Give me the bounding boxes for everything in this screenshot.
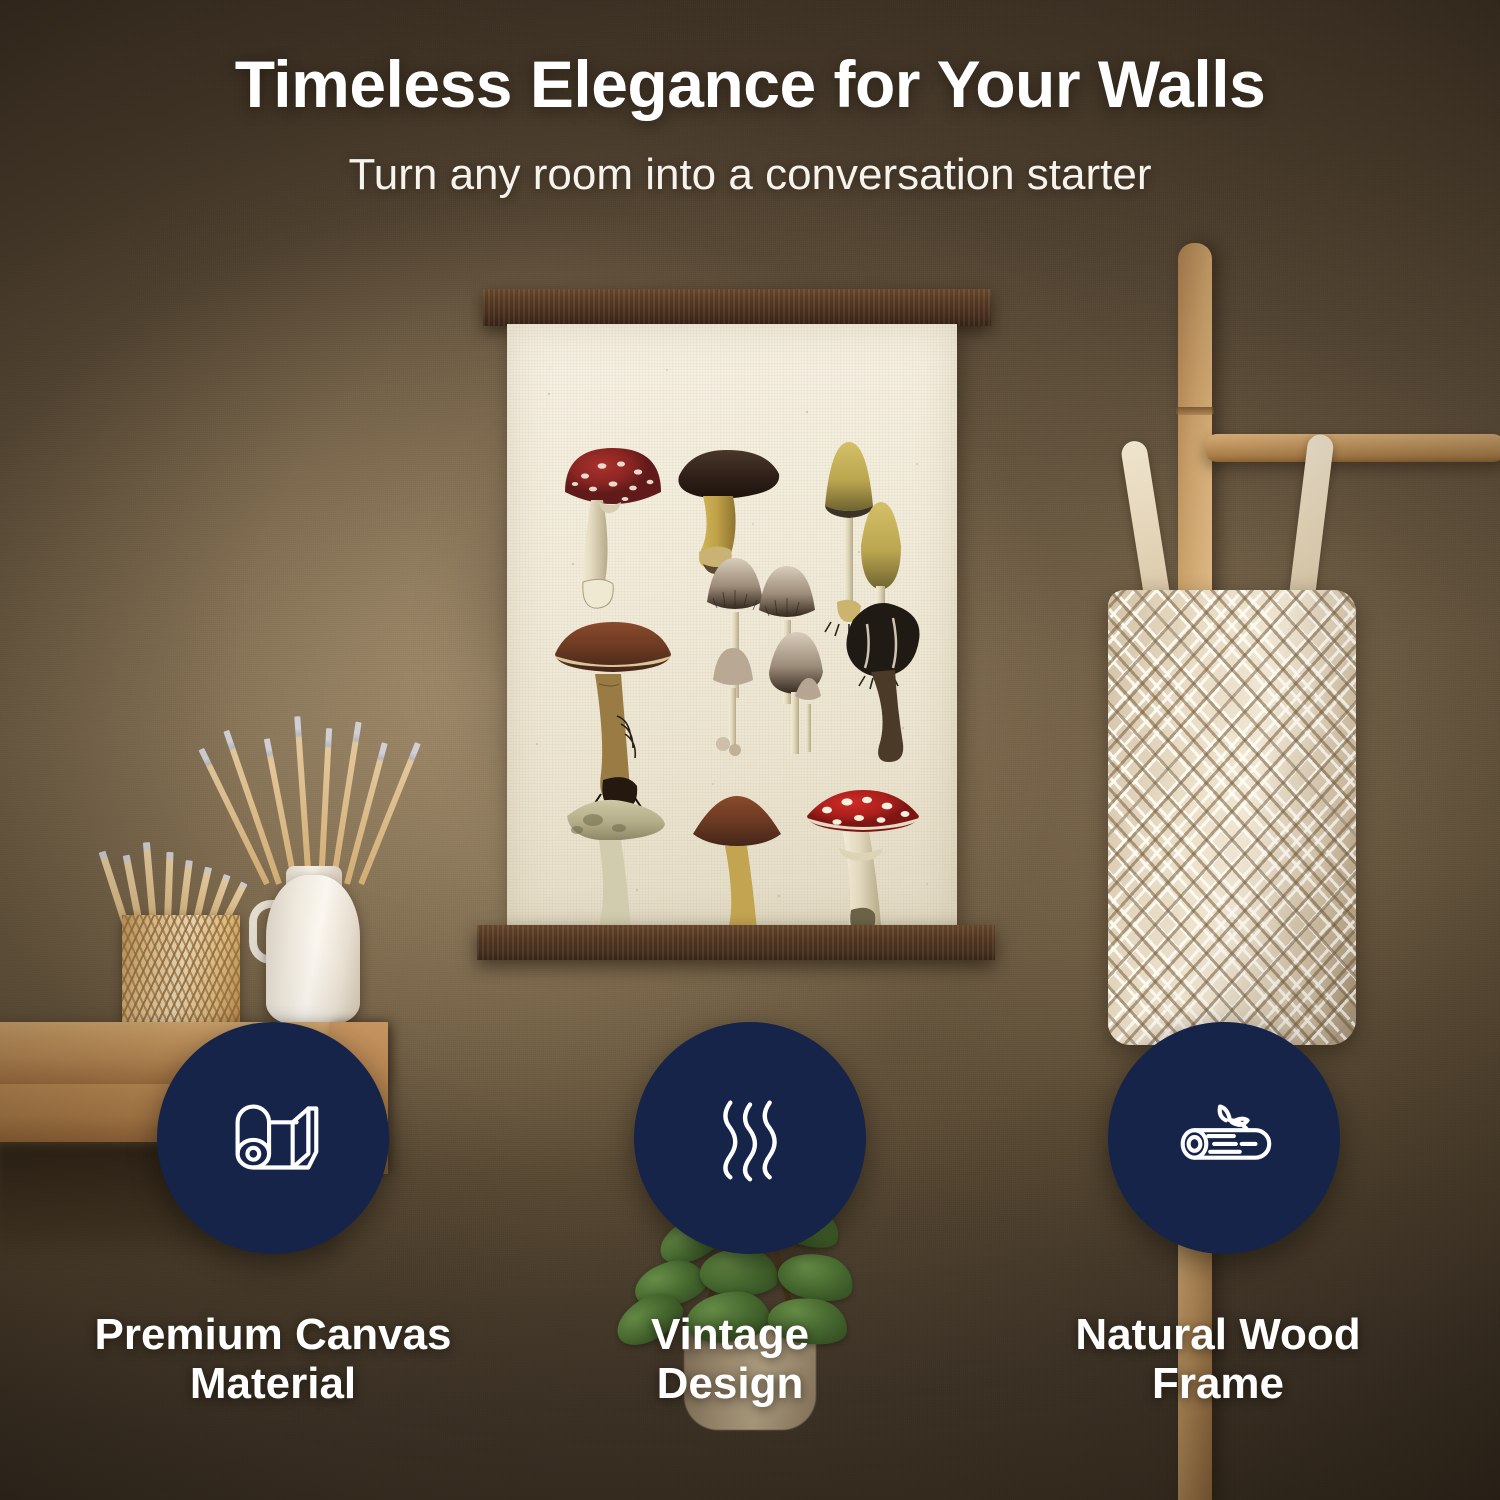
feature-label-premium-canvas: Premium Canvas Material	[63, 1310, 483, 1409]
paint-brushes	[258, 716, 378, 884]
feature-label-natural-wood-frame: Natural Wood Frame	[1008, 1310, 1428, 1409]
pencil-cup	[122, 915, 240, 1027]
wood-grain	[483, 289, 991, 326]
cup-pattern	[122, 915, 240, 1027]
ceramic-vase	[266, 875, 360, 1025]
page-title: Timeless Elegance for Your Walls	[0, 46, 1500, 122]
feature-label-line1: Premium Canvas	[63, 1310, 483, 1359]
feature-label-line2: Design	[520, 1359, 940, 1408]
pencils	[118, 838, 246, 924]
canvas-roll-icon	[214, 1079, 332, 1197]
mesh-tote-bag	[1100, 430, 1360, 1050]
bamboo-node	[1176, 407, 1214, 415]
product-feature-image: Timeless Elegance for Your Walls Turn an…	[0, 0, 1500, 1500]
feature-label-line1: Vintage	[520, 1310, 940, 1359]
poster-canvas	[507, 324, 957, 928]
feature-label-vintage-design: Vintage Design	[520, 1310, 940, 1409]
bag-mesh-pattern	[1108, 590, 1356, 1045]
wavy-lines-icon	[691, 1079, 809, 1197]
wood-log-icon	[1165, 1079, 1283, 1197]
bag-body	[1108, 590, 1356, 1045]
feature-badge-vintage-design[interactable]	[634, 1022, 866, 1254]
feature-label-line2: Frame	[1008, 1359, 1428, 1408]
poster-frame-top-rail	[483, 289, 991, 326]
poster-frame-bottom-rail	[477, 925, 995, 960]
mushroom-chart-artwork	[507, 324, 957, 928]
feature-badge-natural-wood-frame[interactable]	[1108, 1022, 1340, 1254]
wood-grain	[477, 925, 995, 960]
feature-label-line2: Material	[63, 1359, 483, 1408]
page-subtitle: Turn any room into a conversation starte…	[0, 150, 1500, 200]
feature-label-line1: Natural Wood	[1008, 1310, 1428, 1359]
feature-badge-premium-canvas[interactable]	[157, 1022, 389, 1254]
